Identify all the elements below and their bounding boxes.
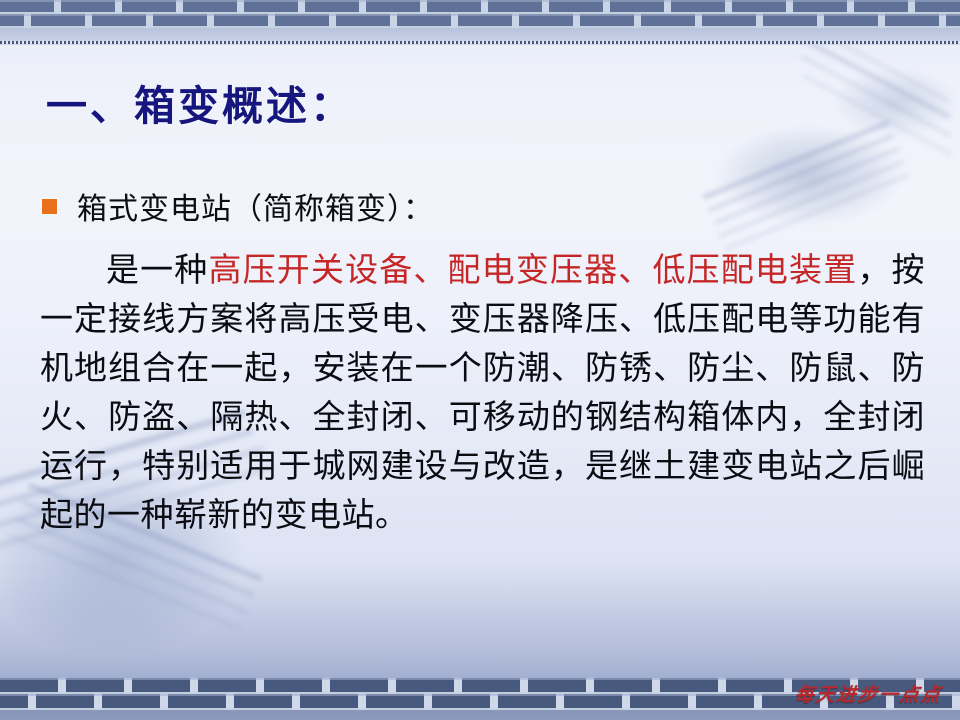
body-text-lead: 是一种 xyxy=(106,250,208,289)
body-text-highlight: 高压开关设备、配电变压器、低压配电装置 xyxy=(208,250,857,289)
presentation-slide: 一、箱变概述： 箱式变电站（简称箱变）： 是一种高压开关设备、配电变压器、低压配… xyxy=(0,0,960,720)
bullet-list-item: 箱式变电站（简称箱变）： xyxy=(42,184,434,228)
square-bullet-icon xyxy=(42,199,57,214)
body-paragraph: 是一种高压开关设备、配电变压器、低压配电装置，按一定接线方案将高压受电、变压器降… xyxy=(40,245,925,539)
body-text-rest: ，按一定接线方案将高压受电、变压器降压、低压配电等功能有机地组合在一起，安装在一… xyxy=(40,250,925,534)
slide-content: 一、箱变概述： 箱式变电站（简称箱变）： 是一种高压开关设备、配电变压器、低压配… xyxy=(0,0,960,720)
footer-signature: 每天进步一点点 xyxy=(793,680,944,707)
bullet-item-label: 箱式变电站（简称箱变）： xyxy=(77,184,434,228)
slide-title: 一、箱变概述： xyxy=(46,72,354,132)
